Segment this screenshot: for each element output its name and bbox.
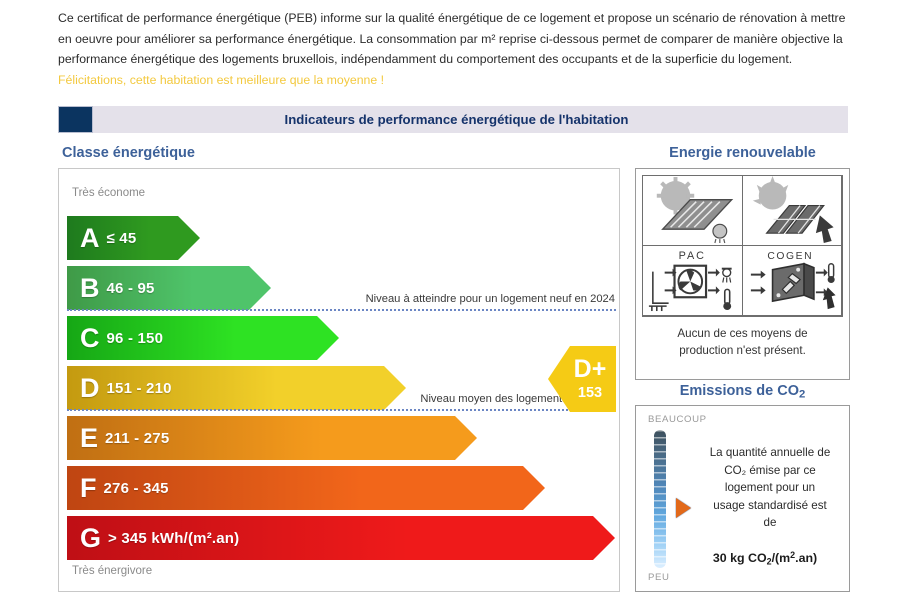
energy-bar-a: A≤ 45 [67,216,200,260]
energy-bars-list: A≤ 45B46 - 95C96 - 150D151 - 210E211 - 2… [67,213,615,563]
co2-value: 30 kg CO2/(m2.an) [686,550,844,567]
co2-description-line4: usage standardisé est [698,497,842,515]
co2-scale-top-label: BEAUCOUP [648,414,707,425]
renewable-icon-grid: PAC [642,175,843,317]
energy-bar-b: B46 - 95 [67,266,271,310]
section-banner: Indicateurs de performance énergétique d… [58,106,848,133]
co2-gradient-scale [654,430,666,568]
scale-label-bottom: Très énergivore [72,565,152,577]
peb-certificate-page: Ce certificat de performance énergétique… [0,0,900,600]
energy-class-chart: Très économe Très énergivore A≤ 45B46 - … [58,168,620,592]
co2-description-line1: La quantité annuelle de [698,444,842,462]
renewable-message-line1: Aucun de ces moyens de [646,325,839,342]
energy-bar-row: F276 - 345 [67,463,615,513]
heading-emissions-co2: Emissions de CO2 [635,383,850,400]
intro-paragraph: Ce certificat de performance énergétique… [58,8,848,90]
renewable-energy-panel: PAC [635,168,850,380]
energy-bar-f: F276 - 345 [67,466,545,510]
energy-bar-letter: A [80,225,100,252]
svg-text:COGEN: COGEN [767,251,813,262]
energy-bar-range: > 345 kWh/(m².an) [108,530,239,547]
energy-bar-c: C96 - 150 [67,316,339,360]
energy-bar-d: D151 - 210 [67,366,406,410]
energy-bar-row: D151 - 210 [67,363,615,413]
energy-bar-letter: E [80,425,98,452]
energy-bar-row: B46 - 95 [67,263,615,313]
heading-classe-energetique: Classe énergétique [62,145,195,161]
energy-bar-range: 276 - 345 [104,480,169,497]
energy-bar-row: C96 - 150 [67,313,615,363]
banner-title: Indicateurs de performance énergétique d… [93,112,848,127]
energy-bar-row: A≤ 45 [67,213,615,263]
reference-line-label-1: Niveau à atteindre pour un logement neuf… [366,293,615,305]
energy-bar-letter: B [80,275,100,302]
energy-bar-letter: G [80,525,101,552]
energy-bar-e: E211 - 275 [67,416,477,460]
energy-bar-range: 151 - 210 [107,380,172,397]
energy-bar-letter: F [80,475,97,502]
svg-text:PAC: PAC [679,250,706,262]
solar-thermal-icon [642,175,743,246]
intro-highlight: Félicitations, cette habitation est meil… [58,73,384,87]
energy-bar-range: 211 - 275 [105,430,169,447]
energy-bar-row: E211 - 275 [67,413,615,463]
banner-square-icon [58,106,93,133]
co2-description-line5: de [698,514,842,532]
co2-position-arrow-icon [676,498,691,518]
cogeneration-icon: COGEN [742,245,843,316]
photovoltaic-icon [742,175,843,246]
co2-description-line3: logement pour un [698,479,842,497]
energy-bar-range: 96 - 150 [107,330,164,347]
energy-bar-letter: D [80,375,100,402]
energy-bar-row: G> 345 kWh/(m².an) [67,513,615,563]
energy-bar-letter: C [80,325,100,352]
energy-bar-range: ≤ 45 [107,230,137,247]
heat-pump-icon: PAC [642,245,743,316]
co2-description: La quantité annuelle de CO₂ émise par ce… [698,444,842,532]
renewable-message-line2: production n'est présent. [646,342,839,359]
reference-line-1 [67,309,616,311]
marker-value-label: 153 [578,385,602,401]
energy-bar-g: G> 345 kWh/(m².an) [67,516,615,560]
marker-class-label: D+ [574,357,607,382]
co2-emissions-panel: BEAUCOUP PEU La quantité annuelle de CO₂… [635,405,850,592]
co2-scale-bottom-label: PEU [648,572,670,583]
co2-value-unit: kg CO2/(m2.an) [730,551,817,565]
co2-value-number: 30 [713,551,727,565]
scale-label-top: Très économe [72,187,145,199]
heading-energie-renouvelable: Energie renouvelable [635,145,850,161]
co2-heading-subscript: 2 [799,388,805,400]
reference-line-2 [67,409,616,411]
energy-bar-range: 46 - 95 [107,280,155,297]
co2-description-line2: CO₂ émise par ce [698,462,842,480]
co2-heading-text: Emissions de CO [680,383,799,399]
renewable-message: Aucun de ces moyens de production n'est … [636,323,849,359]
intro-text: Ce certificat de performance énergétique… [58,11,845,66]
